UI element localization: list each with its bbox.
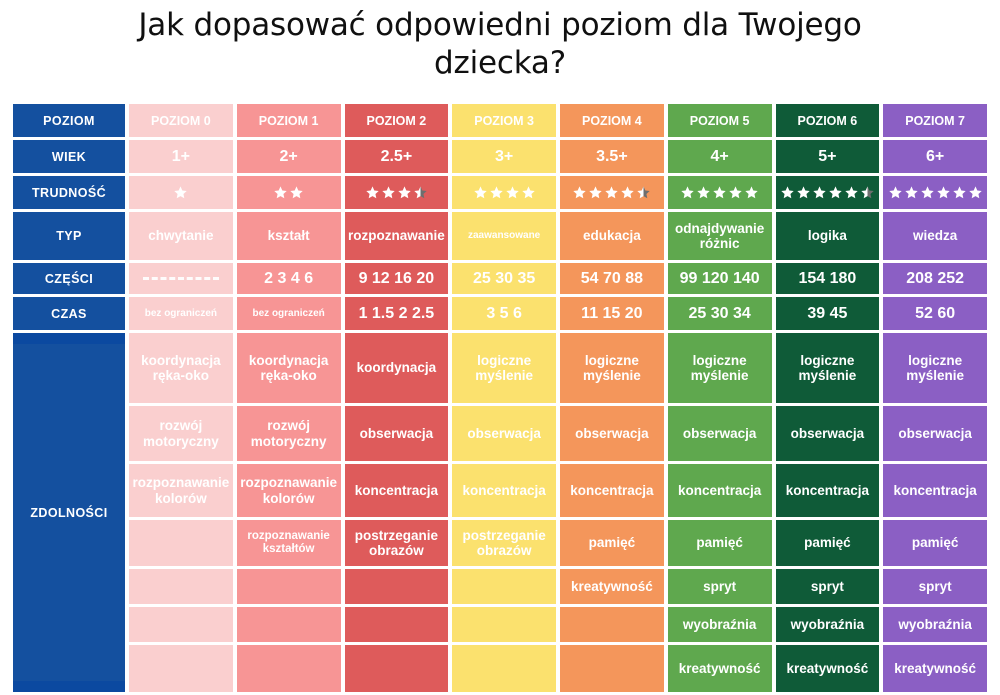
zdolnosci-r7-level-5: kreatywność [668,645,772,692]
trudnosc-level-6 [776,176,880,209]
zdolnosci-r1-level-2: koordynacja [345,333,449,403]
star-rating-icon [888,185,983,200]
zdolnosci-r1-level-4: logiczne myślenie [560,333,664,403]
wiek-level-1: 2+ [237,140,341,173]
zdolnosci-r1-level-1: koordynacja ręka-oko [237,333,341,403]
wiek-level-0: 1+ [129,140,233,173]
trudnosc-level-4 [560,176,664,209]
zdolnosci-r2-level-7: obserwacja [883,406,987,461]
zdolnosci-r2-level-0: rozwój motoryczny [129,406,233,461]
dashed-line-icon [143,277,219,280]
czas-level-4: 11 15 20 [560,297,664,330]
czesci-level-7: 208 252 [883,263,987,294]
wiek-level-5: 4+ [668,140,772,173]
header-level-7: POZIOM 7 [883,104,987,137]
czas-level-5: 25 30 34 [668,297,772,330]
levels-table: POZIOM POZIOM 0 POZIOM 1 POZIOM 2 POZIOM… [13,104,987,692]
czesci-level-5: 99 120 140 [668,263,772,294]
wiek-level-7: 6+ [883,140,987,173]
zdolnosci-r5-level-3 [452,569,556,604]
zdolnosci-r1-level-0: koordynacja ręka-oko [129,333,233,403]
czesci-level-1: 2 3 4 6 [237,263,341,294]
zdolnosci-r7-level-4 [560,645,664,692]
header-level-3: POZIOM 3 [452,104,556,137]
zdolnosci-r3-level-4: koncentracja [560,464,664,517]
row-label-czas: CZAS [13,297,125,330]
zdolnosci-r7-level-0 [129,645,233,692]
row-label-czesci: CZĘŚCI [13,263,125,294]
wiek-level-6: 5+ [776,140,880,173]
zdolnosci-r7-level-6: kreatywność [776,645,880,692]
zdolnosci-r1-level-6: logiczne myślenie [776,333,880,403]
zdolnosci-r2-level-1: rozwój motoryczny [237,406,341,461]
typ-level-7: wiedza [883,212,987,260]
czas-level-2: 1 1.5 2 2.5 [345,297,449,330]
zdolnosci-r4-level-5: pamięć [668,520,772,566]
czas-level-3: 3 5 6 [452,297,556,330]
czas-level-0: bez ograniczeń [129,297,233,330]
star-rating-icon [680,185,759,200]
trudnosc-level-0 [129,176,233,209]
czesci-level-4: 54 70 88 [560,263,664,294]
zdolnosci-r2-level-4: obserwacja [560,406,664,461]
czesci-level-6: 154 180 [776,263,880,294]
czesci-level-3: 25 30 35 [452,263,556,294]
zdolnosci-r3-level-1: rozpoznawanie kolorów [237,464,341,517]
zdolnosci-r6-level-2 [345,607,449,642]
star-rating-icon [173,185,188,200]
zdolnosci-r5-level-5: spryt [668,569,772,604]
zdolnosci-r7-level-1 [237,645,341,692]
zdolnosci-r7-level-7: kreatywność [883,645,987,692]
zdolnosci-r5-level-4: kreatywność [560,569,664,604]
zdolnosci-r7-level-2 [345,645,449,692]
header-level-0: POZIOM 0 [129,104,233,137]
zdolnosci-r6-level-5: wyobraźnia [668,607,772,642]
typ-level-4: edukacja [560,212,664,260]
zdolnosci-r5-level-7: spryt [883,569,987,604]
zdolnosci-r3-level-7: koncentracja [883,464,987,517]
zdolnosci-r2-level-6: obserwacja [776,406,880,461]
row-label-zdolnosci-text: ZDOLNOŚCI [30,506,107,520]
row-label-wiek: WIEK [13,140,125,173]
typ-level-1: kształt [237,212,341,260]
star-rating-icon [572,185,651,200]
row-label-poziom: POZIOM [13,104,125,137]
zdolnosci-r2-level-5: obserwacja [668,406,772,461]
zdolnosci-r4-level-4: pamięć [560,520,664,566]
czas-level-1: bez ograniczeń [237,297,341,330]
wiek-level-2: 2.5+ [345,140,449,173]
typ-level-2: rozpoznawanie [345,212,449,260]
header-level-4: POZIOM 4 [560,104,664,137]
infographic-page: Jak dopasować odpowiedni poziom dla Twoj… [0,0,1000,695]
typ-level-5: odnajdywanie różnic [668,212,772,260]
zdolnosci-r5-level-1 [237,569,341,604]
zdolnosci-r3-level-6: koncentracja [776,464,880,517]
trudnosc-level-3 [452,176,556,209]
zdolnosci-r7-level-3 [452,645,556,692]
zdolnosci-r3-level-5: koncentracja [668,464,772,517]
zdolnosci-r4-level-7: pamięć [883,520,987,566]
header-level-2: POZIOM 2 [345,104,449,137]
header-level-1: POZIOM 1 [237,104,341,137]
zdolnosci-r4-level-6: pamięć [776,520,880,566]
zdolnosci-r6-level-0 [129,607,233,642]
czesci-level-0 [129,263,233,294]
header-level-6: POZIOM 6 [776,104,880,137]
header-level-5: POZIOM 5 [668,104,772,137]
zdolnosci-r2-level-2: obserwacja [345,406,449,461]
zdolnosci-r1-level-5: logiczne myślenie [668,333,772,403]
trudnosc-level-2 [345,176,449,209]
star-rating-icon [273,185,304,200]
zdolnosci-r3-level-0: rozpoznawanie kolorów [129,464,233,517]
zdolnosci-r1-level-3: logiczne myślenie [452,333,556,403]
zdolnosci-r5-level-2 [345,569,449,604]
wiek-level-3: 3+ [452,140,556,173]
czas-level-7: 52 60 [883,297,987,330]
zdolnosci-r4-level-0 [129,520,233,566]
czas-level-6: 39 45 [776,297,880,330]
wiek-level-4: 3.5+ [560,140,664,173]
zdolnosci-r6-level-6: wyobraźnia [776,607,880,642]
zdolnosci-r4-level-3: postrzeganie obrazów [452,520,556,566]
trudnosc-level-5 [668,176,772,209]
zdolnosci-r5-level-0 [129,569,233,604]
page-title: Jak dopasować odpowiedni poziom dla Twoj… [0,6,1000,82]
zdolnosci-r1-level-7: logiczne myślenie [883,333,987,403]
zdolnosci-r6-level-4 [560,607,664,642]
row-label-zdolnosci: ZDOLNOŚCI [13,333,125,692]
zdolnosci-r4-level-1: rozpoznawanie kształtów [237,520,341,566]
zdolnosci-r5-level-6: spryt [776,569,880,604]
row-label-typ: TYP [13,212,125,260]
star-rating-icon [780,185,875,200]
zdolnosci-r3-level-2: koncentracja [345,464,449,517]
zdolnosci-r4-level-2: postrzeganie obrazów [345,520,449,566]
trudnosc-level-7 [883,176,987,209]
zdolnosci-r6-level-3 [452,607,556,642]
typ-level-3: zaawansowane [452,212,556,260]
zdolnosci-r3-level-3: koncentracja [452,464,556,517]
trudnosc-level-1 [237,176,341,209]
zdolnosci-r6-level-7: wyobraźnia [883,607,987,642]
typ-level-0: chwytanie [129,212,233,260]
czesci-level-2: 9 12 16 20 [345,263,449,294]
typ-level-6: logika [776,212,880,260]
star-rating-icon [473,185,536,200]
zdolnosci-r2-level-3: obserwacja [452,406,556,461]
star-rating-icon [365,185,428,200]
row-label-trudnosc: TRUDNOŚĆ [13,176,125,209]
zdolnosci-r6-level-1 [237,607,341,642]
